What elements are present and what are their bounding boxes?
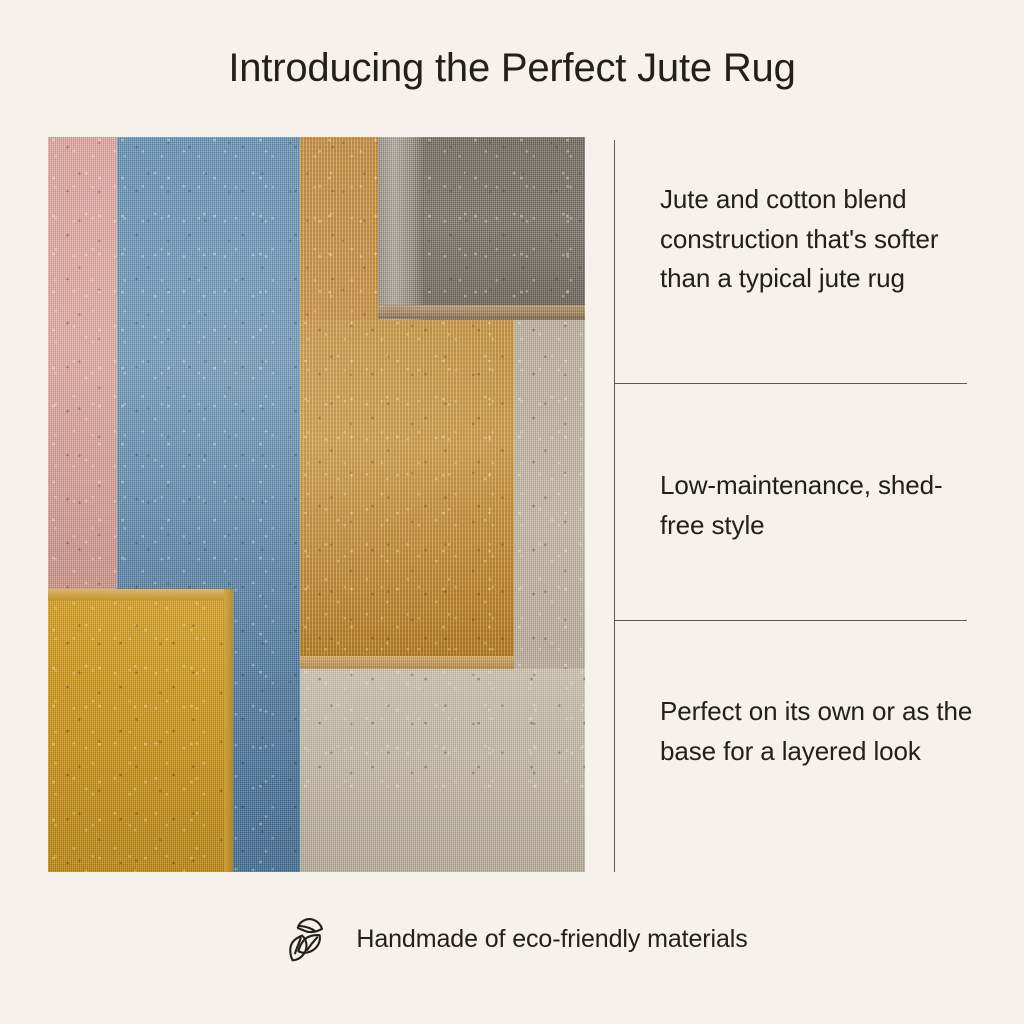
- infographic-page: Introducing the Perfect Jute Rug Jute an…: [0, 0, 1024, 1024]
- page-title: Introducing the Perfect Jute Rug: [0, 44, 1024, 92]
- photo-oatmeal-rug-lower: [300, 787, 585, 872]
- photo-golden-jute-hem: [300, 656, 514, 669]
- photo-golden-jute-panel: [300, 320, 514, 668]
- product-photo: [48, 137, 585, 872]
- eco-leaves-recycle-icon: [276, 908, 338, 970]
- photo-charcoal-rug-hem: [378, 305, 585, 319]
- horizontal-divider-1: [614, 383, 967, 384]
- photo-charcoal-rug-fold: [378, 137, 424, 320]
- photo-mustard-rug-hem: [48, 589, 231, 600]
- photo-mustard-rug-edge: [224, 589, 233, 872]
- footer-label: Handmade of eco-friendly materials: [356, 924, 747, 954]
- photo-mustard-rug: [48, 589, 231, 872]
- photo-rose-stripe: [48, 137, 117, 597]
- feature-low-maintenance: Low-maintenance, shed-free style: [660, 466, 980, 545]
- feature-layering: Perfect on its own or as the base for a …: [660, 692, 980, 771]
- footer: Handmade of eco-friendly materials: [0, 908, 1024, 970]
- vertical-divider: [614, 140, 615, 872]
- horizontal-divider-2: [614, 620, 967, 621]
- feature-blend-construction: Jute and cotton blend construction that'…: [660, 180, 980, 299]
